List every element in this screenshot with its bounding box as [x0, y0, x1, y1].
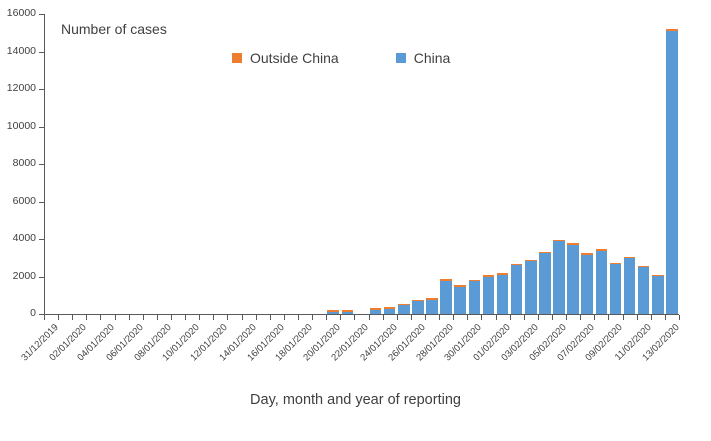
x-axis-tick [340, 315, 341, 320]
bar-group[interactable] [469, 280, 481, 314]
bar-segment-china [327, 312, 339, 314]
x-axis-tick [665, 315, 666, 320]
bar-segment-china [483, 277, 495, 314]
y-axis-label: 8000 [0, 158, 36, 168]
x-axis-tick [227, 315, 228, 320]
x-axis-tick [651, 315, 652, 320]
x-axis-tick [481, 315, 482, 320]
bar-segment-china [497, 275, 509, 314]
bar-segment-china [581, 255, 593, 314]
bar-segment-outside-china [610, 263, 622, 265]
bar-segment-outside-china [497, 273, 509, 275]
x-axis-tick [72, 315, 73, 320]
bar-segment-china [370, 310, 382, 314]
x-axis-tick [524, 315, 525, 320]
bar-group[interactable] [581, 254, 593, 314]
bar-segment-outside-china [342, 310, 354, 312]
plot-area [44, 14, 679, 314]
bar-group[interactable] [539, 252, 551, 314]
bar-segment-outside-china [525, 260, 537, 262]
bar-segment-outside-china [370, 308, 382, 310]
bar-segment-china [398, 305, 410, 314]
x-axis-tick [185, 315, 186, 320]
bar-group[interactable] [652, 276, 664, 314]
bar-segment-china [454, 287, 466, 314]
x-axis-tick [298, 315, 299, 320]
bar-segment-outside-china [581, 253, 593, 255]
y-axis-label: 4000 [0, 233, 36, 243]
bar-group[interactable] [525, 260, 537, 314]
bar-segment-china [539, 253, 551, 314]
x-axis-tick [270, 315, 271, 320]
x-axis-tick [580, 315, 581, 320]
bar-segment-outside-china [384, 307, 396, 309]
bar-segment-china [525, 261, 537, 314]
x-axis-tick [157, 315, 158, 320]
bar-group[interactable] [553, 240, 565, 314]
bar-segment-outside-china [596, 249, 608, 251]
x-axis-tick [608, 315, 609, 320]
bar-segment-outside-china [666, 29, 678, 31]
x-axis-tick [453, 315, 454, 320]
bar-segment-china [666, 31, 678, 314]
bar-segment-china [610, 264, 622, 314]
bar-segment-outside-china [511, 264, 523, 266]
x-axis-tick [199, 315, 200, 320]
bar-group[interactable] [384, 308, 396, 314]
bar-segment-outside-china [454, 285, 466, 287]
bar-segment-outside-china [426, 298, 438, 300]
x-axis-tick [623, 315, 624, 320]
bar-group[interactable] [454, 285, 466, 314]
y-axis-label: 12000 [0, 83, 36, 93]
bar-segment-china [638, 267, 650, 314]
y-axis-label: 14000 [0, 46, 36, 56]
bar-group[interactable] [398, 305, 410, 314]
bar-group[interactable] [370, 310, 382, 314]
bar-group[interactable] [483, 275, 495, 314]
x-axis-tick [538, 315, 539, 320]
bar-segment-china [440, 281, 452, 314]
bar-group[interactable] [567, 243, 579, 314]
x-axis-tick [129, 315, 130, 320]
x-axis-tick [326, 315, 327, 320]
x-axis-tick [679, 315, 680, 320]
bar-segment-outside-china [398, 304, 410, 306]
bar-segment-china [567, 245, 579, 314]
x-axis-tick [86, 315, 87, 320]
bar-group[interactable] [610, 264, 622, 314]
bar-segment-outside-china [624, 257, 636, 259]
bar-segment-outside-china [440, 279, 452, 281]
x-axis-title: Day, month and year of reporting [0, 392, 711, 408]
x-axis-tick [213, 315, 214, 320]
bar-segment-china [652, 276, 664, 314]
bar-segment-outside-china [638, 266, 650, 268]
x-axis-tick [439, 315, 440, 320]
bar-segment-china [342, 312, 354, 314]
bar-segment-outside-china [553, 240, 565, 242]
x-axis-tick [284, 315, 285, 320]
y-axis-label: 16000 [0, 8, 36, 18]
x-axis-tick [58, 315, 59, 320]
bar-segment-outside-china [469, 280, 481, 282]
bar-segment-china [511, 265, 523, 314]
bar-group[interactable] [624, 257, 636, 314]
x-axis-line [44, 314, 679, 315]
bar-group[interactable] [666, 29, 678, 314]
bar-segment-outside-china [412, 300, 424, 302]
x-axis-tick [143, 315, 144, 320]
x-axis-tick [425, 315, 426, 320]
bar-segment-china [596, 251, 608, 314]
y-axis-label: 2000 [0, 271, 36, 281]
x-axis-tick [354, 315, 355, 320]
y-axis-label: 10000 [0, 121, 36, 131]
x-axis-tick [369, 315, 370, 320]
x-axis-tick [115, 315, 116, 320]
x-axis-tick [594, 315, 595, 320]
bar-group[interactable] [412, 301, 424, 315]
x-axis-tick [552, 315, 553, 320]
bar-segment-china [412, 301, 424, 314]
x-axis-tick [44, 315, 45, 320]
bar-group[interactable] [440, 280, 452, 314]
x-axis-tick [467, 315, 468, 320]
bar-segment-china [624, 258, 636, 314]
x-axis-tick [397, 315, 398, 320]
bar-segment-china [384, 309, 396, 314]
bar-group[interactable] [426, 299, 438, 314]
bar-group[interactable] [638, 266, 650, 314]
bar-segment-china [426, 300, 438, 314]
bar-segment-outside-china [483, 275, 495, 277]
bar-segment-china [469, 281, 481, 314]
bar-segment-outside-china [652, 275, 664, 277]
x-axis-tick [637, 315, 638, 320]
bar-group[interactable] [342, 312, 354, 314]
x-axis-tick [256, 315, 257, 320]
x-axis-tick [242, 315, 243, 320]
x-axis-tick [171, 315, 172, 320]
bar-segment-china [553, 241, 565, 314]
x-axis-tick [383, 315, 384, 320]
x-axis-tick [566, 315, 567, 320]
y-axis-label: 6000 [0, 196, 36, 206]
x-axis-tick [100, 315, 101, 320]
x-axis-tick [510, 315, 511, 320]
x-axis-tick [411, 315, 412, 320]
bar-segment-outside-china [567, 243, 579, 245]
bar-group[interactable] [596, 250, 608, 314]
bar-group[interactable] [511, 264, 523, 314]
bar-group[interactable] [327, 311, 339, 314]
y-axis-label: 0 [0, 308, 36, 318]
x-axis-tick [496, 315, 497, 320]
bar-group[interactable] [497, 274, 509, 315]
bar-segment-outside-china [327, 310, 339, 312]
x-axis-tick [312, 315, 313, 320]
case-chart: Number of cases Outside ChinaChina 02000… [0, 0, 711, 441]
bar-segment-outside-china [539, 252, 551, 254]
